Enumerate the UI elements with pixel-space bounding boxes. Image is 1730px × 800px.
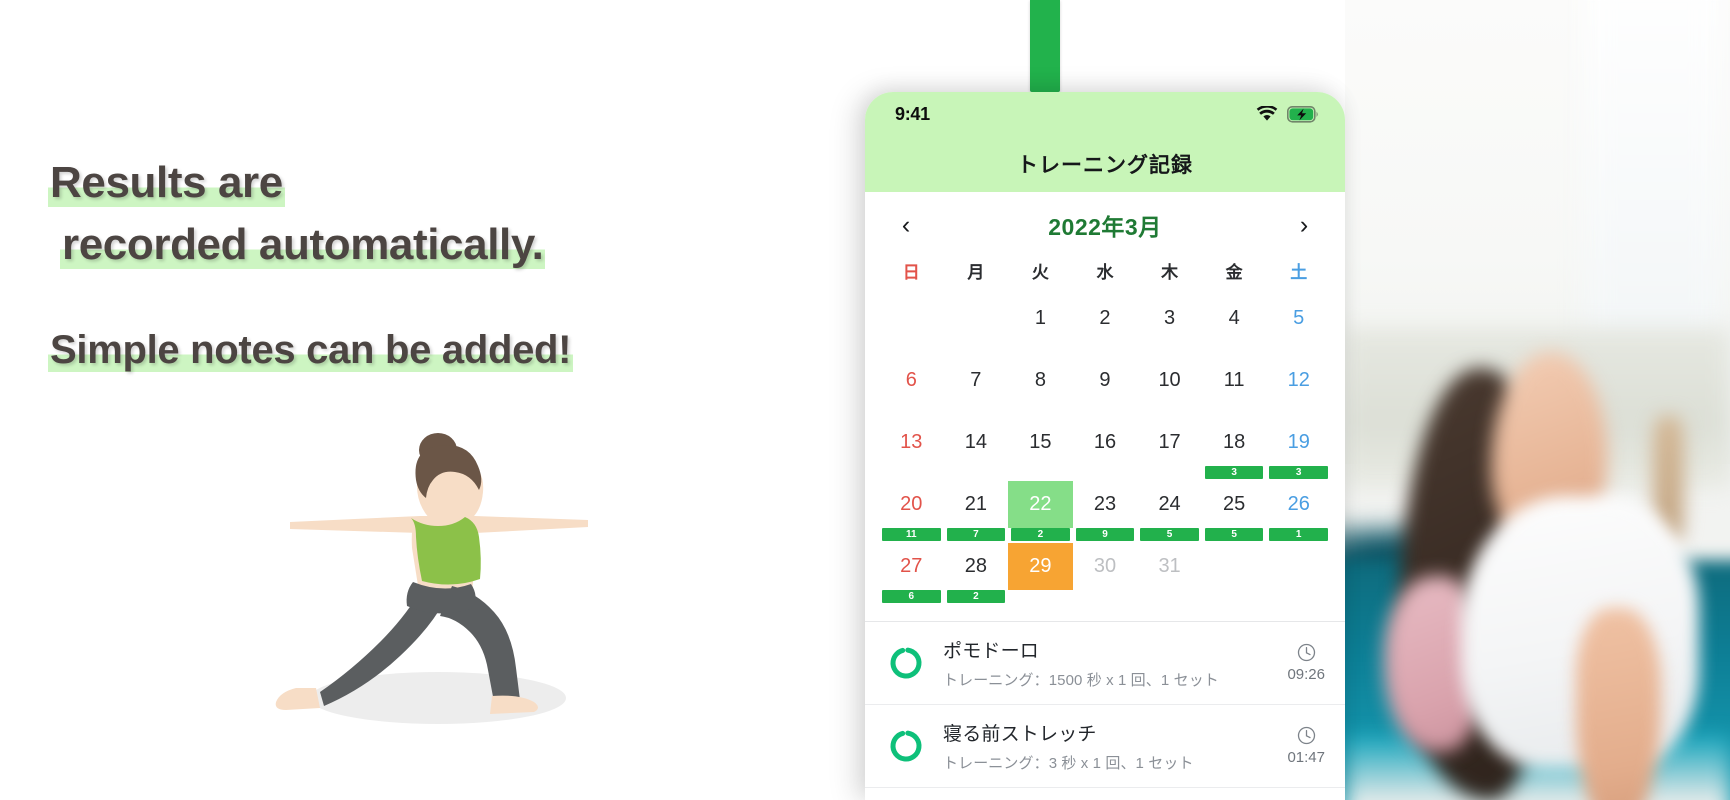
calendar-day-16[interactable]: 16 [1073, 419, 1138, 479]
day-number: 26 [1266, 481, 1331, 528]
day-number-wrap: 5 [1266, 295, 1331, 342]
day-number: 6 [879, 357, 944, 404]
calendar-week-row: 1314151617183193 [865, 419, 1345, 479]
day-number: 14 [944, 419, 1009, 466]
day-number-wrap: 2 [1073, 295, 1138, 342]
day-number-wrap: 4 [1202, 295, 1267, 342]
day-count-badge-empty [882, 404, 941, 417]
calendar-day-13[interactable]: 13 [879, 419, 944, 479]
day-number: 1 [1008, 295, 1073, 342]
day-number: 20 [879, 481, 944, 528]
day-count-badge: 7 [947, 528, 1006, 541]
page-title: トレーニング記録 [1017, 149, 1193, 179]
record-time-block: 01:47 [1277, 726, 1325, 766]
day-number: 4 [1202, 295, 1267, 342]
day-number-wrap [1266, 543, 1331, 590]
record-list-item[interactable]: 寝る前ストレッチトレーニング：3 秒 x 1 回、1 セット01:47 [865, 705, 1345, 788]
day-number: 7 [944, 357, 1009, 404]
calendar-week-row: 6789101112 [865, 357, 1345, 417]
day-number-wrap: 30 [1073, 543, 1138, 590]
calendar-day-7[interactable]: 7 [944, 357, 1009, 417]
day-number-wrap: 27 [879, 543, 944, 590]
day-count-badge-empty [1011, 342, 1070, 355]
day-number: 10 [1137, 357, 1202, 404]
day-number: 15 [1008, 419, 1073, 466]
calendar-day-19[interactable]: 193 [1266, 419, 1331, 479]
nav-bar: トレーニング記録 [865, 136, 1345, 192]
illustration-back-foot [276, 688, 320, 710]
day-number: 16 [1073, 419, 1138, 466]
day-count-badge: 3 [1269, 466, 1328, 479]
calendar-day-25[interactable]: 255 [1202, 481, 1267, 541]
day-number: 17 [1137, 419, 1202, 466]
day-count-badge: 9 [1076, 528, 1135, 541]
calendar-month-label: 2022年3月 [1048, 208, 1161, 242]
day-number: 8 [1008, 357, 1073, 404]
day-number-wrap: 24 [1137, 481, 1202, 528]
status-bar: 9:41 [865, 92, 1345, 136]
day-count-badge: 2 [1011, 528, 1070, 541]
weekday-header-4: 木 [1137, 252, 1202, 295]
calendar-day-24[interactable]: 245 [1137, 481, 1202, 541]
wifi-icon [1256, 106, 1278, 122]
day-count-badge-empty [1269, 590, 1328, 603]
day-count-badge: 11 [882, 528, 941, 541]
day-count-badge-empty [1140, 342, 1199, 355]
calendar-day-22[interactable]: 222 [1008, 481, 1073, 541]
calendar: ‹ 2022年3月 › 日月火水木金土 12345678910111213141… [865, 192, 1345, 615]
calendar-day-15[interactable]: 15 [1008, 419, 1073, 479]
record-time-block: 09:26 [1277, 643, 1325, 683]
day-number-wrap: 12 [1266, 357, 1331, 404]
calendar-grid: 1234567891011121314151617183193201121722… [865, 295, 1345, 603]
clock-icon [1297, 726, 1316, 745]
day-number-wrap: 14 [944, 419, 1009, 466]
calendar-day-2[interactable]: 2 [1073, 295, 1138, 355]
day-count-badge: 1 [1269, 528, 1328, 541]
prev-month-button[interactable]: ‹ [891, 210, 921, 240]
record-subtitle: トレーニング：3 秒 x 1 回、1 セット [943, 752, 1277, 773]
record-body: 寝る前ストレッチトレーニング：3 秒 x 1 回、1 セット [943, 719, 1277, 773]
calendar-week-row: 2011217222239245255261 [865, 481, 1345, 541]
day-number-wrap: 10 [1137, 357, 1202, 404]
yoga-illustration [270, 430, 600, 740]
record-title: 寝る前ストレッチ [943, 719, 1277, 746]
day-count-badge-empty [1140, 590, 1199, 603]
promo-screenshot: Results are recorded automatically. Simp… [0, 0, 1730, 800]
calendar-day-1[interactable]: 1 [1008, 295, 1073, 355]
subline: Simple notes can be added! [48, 322, 808, 378]
record-title: ポモドーロ [943, 636, 1277, 663]
record-time: 09:26 [1287, 666, 1325, 683]
weekday-header-1: 月 [944, 252, 1009, 295]
calendar-day-5[interactable]: 5 [1266, 295, 1331, 355]
calendar-day-empty [879, 295, 944, 355]
weekday-header-2: 火 [1008, 252, 1073, 295]
calendar-day-29[interactable]: 29 [1008, 543, 1073, 603]
calendar-day-12[interactable]: 12 [1266, 357, 1331, 417]
record-list: ポモドーロトレーニング：1500 秒 x 1 回、1 セット09:26寝る前スト… [865, 622, 1345, 788]
day-number: 27 [879, 543, 944, 590]
day-count-badge-empty [1140, 466, 1199, 479]
weekday-header-5: 金 [1202, 252, 1267, 295]
day-count-badge-empty [1269, 342, 1328, 355]
calendar-day-28[interactable]: 282 [944, 543, 1009, 603]
day-count-badge-empty [1140, 404, 1199, 417]
day-count-badge-empty [1076, 342, 1135, 355]
calendar-day-18[interactable]: 183 [1202, 419, 1267, 479]
day-count-badge-empty [1205, 342, 1264, 355]
status-clock: 9:41 [895, 104, 930, 125]
weekday-header-6: 土 [1266, 252, 1331, 295]
day-number [944, 295, 1009, 342]
day-number-wrap: 3 [1137, 295, 1202, 342]
calendar-day-empty [1266, 543, 1331, 603]
headline-line-1: Results are [48, 152, 808, 214]
day-number: 3 [1137, 295, 1202, 342]
day-number: 12 [1266, 357, 1331, 404]
day-number-wrap: 8 [1008, 357, 1073, 404]
day-number-wrap: 22 [1008, 481, 1073, 528]
day-number-wrap: 25 [1202, 481, 1267, 528]
calendar-day-8[interactable]: 8 [1008, 357, 1073, 417]
day-count-badge: 5 [1140, 528, 1199, 541]
day-number-wrap: 20 [879, 481, 944, 528]
calendar-header: ‹ 2022年3月 › [865, 192, 1345, 252]
day-number: 31 [1137, 543, 1202, 590]
day-count-badge-empty [1205, 404, 1264, 417]
weekday-header-3: 水 [1073, 252, 1138, 295]
day-number: 21 [944, 481, 1009, 528]
day-number-wrap [1202, 543, 1267, 590]
record-list-item[interactable]: ポモドーロトレーニング：1500 秒 x 1 回、1 セット09:26 [865, 622, 1345, 705]
day-count-badge-empty [882, 342, 941, 355]
day-number-wrap [944, 295, 1009, 342]
day-number-wrap: 29 [1008, 543, 1073, 590]
day-count-badge: 5 [1205, 528, 1264, 541]
day-number-wrap: 16 [1073, 419, 1138, 466]
record-subtitle: トレーニング：1500 秒 x 1 回、1 セット [943, 669, 1277, 690]
day-number: 25 [1202, 481, 1267, 528]
day-number: 19 [1266, 419, 1331, 466]
day-number: 24 [1137, 481, 1202, 528]
calendar-day-23[interactable]: 239 [1073, 481, 1138, 541]
calendar-day-9[interactable]: 9 [1073, 357, 1138, 417]
hero-photo [1345, 0, 1730, 800]
illustration-sports-bra [411, 517, 481, 585]
calendar-day-27[interactable]: 276 [879, 543, 944, 603]
calendar-day-3[interactable]: 3 [1137, 295, 1202, 355]
day-number-wrap: 6 [879, 357, 944, 404]
battery-charging-icon [1287, 106, 1319, 123]
day-count-badge-empty [947, 404, 1006, 417]
day-number: 9 [1073, 357, 1138, 404]
day-count-badge: 3 [1205, 466, 1264, 479]
day-number-wrap: 28 [944, 543, 1009, 590]
day-count-badge-empty [1076, 404, 1135, 417]
day-number-wrap: 19 [1266, 419, 1331, 466]
day-number-wrap: 26 [1266, 481, 1331, 528]
calendar-day-21[interactable]: 217 [944, 481, 1009, 541]
next-month-button[interactable]: › [1289, 210, 1319, 240]
calendar-day-20[interactable]: 2011 [879, 481, 944, 541]
day-number: 22 [1008, 481, 1073, 528]
day-count-badge-empty [1076, 590, 1135, 603]
calendar-day-empty [944, 295, 1009, 355]
calendar-day-empty [1202, 543, 1267, 603]
day-number: 2 [1073, 295, 1138, 342]
day-number-wrap: 17 [1137, 419, 1202, 466]
day-count-badge: 2 [947, 590, 1006, 603]
day-number: 13 [879, 419, 944, 466]
day-number-wrap: 1 [1008, 295, 1073, 342]
day-number-wrap: 21 [944, 481, 1009, 528]
calendar-week-row: 12345 [865, 295, 1345, 355]
day-count-badge: 6 [882, 590, 941, 603]
day-number-wrap: 18 [1202, 419, 1267, 466]
progress-ring-icon [887, 644, 925, 682]
day-number-wrap: 23 [1073, 481, 1138, 528]
day-count-badge-empty [1011, 590, 1070, 603]
record-time: 01:47 [1287, 749, 1325, 766]
day-count-badge-empty [1011, 404, 1070, 417]
day-number: 30 [1073, 543, 1138, 590]
headline: Results are recorded automatically. [48, 152, 808, 277]
headline-line-2: recorded automatically. [48, 214, 808, 276]
photo-leg [1576, 608, 1661, 800]
day-number [1202, 543, 1267, 590]
green-accent-tab [1030, 0, 1060, 92]
calendar-day-31[interactable]: 31 [1137, 543, 1202, 603]
day-number: 11 [1202, 357, 1267, 404]
day-number [879, 295, 944, 342]
calendar-day-6[interactable]: 6 [879, 357, 944, 417]
phone-mockup: 9:41 トレーニング記録 ‹ 2022年3 [865, 92, 1345, 800]
day-count-badge-empty [1076, 466, 1135, 479]
day-number-wrap: 9 [1073, 357, 1138, 404]
clock-icon [1297, 643, 1316, 662]
day-count-badge-empty [1205, 590, 1264, 603]
day-count-badge-empty [882, 466, 941, 479]
day-number: 28 [944, 543, 1009, 590]
progress-ring-icon [887, 727, 925, 765]
calendar-week-row: 276282293031 [865, 543, 1345, 603]
day-number-wrap: 7 [944, 357, 1009, 404]
day-count-badge-empty [1269, 404, 1328, 417]
calendar-day-14[interactable]: 14 [944, 419, 1009, 479]
record-body: ポモドーロトレーニング：1500 秒 x 1 回、1 セット [943, 636, 1277, 690]
day-number-wrap: 13 [879, 419, 944, 466]
day-count-badge-empty [1011, 466, 1070, 479]
day-count-badge-empty [947, 466, 1006, 479]
day-number-wrap [879, 295, 944, 342]
day-number: 23 [1073, 481, 1138, 528]
day-number-wrap: 31 [1137, 543, 1202, 590]
calendar-day-26[interactable]: 261 [1266, 481, 1331, 541]
weekday-header-0: 日 [879, 252, 944, 295]
day-number: 5 [1266, 295, 1331, 342]
day-number-wrap: 15 [1008, 419, 1073, 466]
day-count-badge-empty [947, 342, 1006, 355]
calendar-day-11[interactable]: 11 [1202, 357, 1267, 417]
calendar-weekday-header: 日月火水木金土 [865, 252, 1345, 295]
calendar-day-10[interactable]: 10 [1137, 357, 1202, 417]
day-number: 18 [1202, 419, 1267, 466]
day-number [1266, 543, 1331, 590]
marketing-copy: Results are recorded automatically. Simp… [0, 0, 860, 800]
calendar-day-17[interactable]: 17 [1137, 419, 1202, 479]
day-number: 29 [1008, 543, 1073, 590]
calendar-day-4[interactable]: 4 [1202, 295, 1267, 355]
calendar-day-30[interactable]: 30 [1073, 543, 1138, 603]
day-number-wrap: 11 [1202, 357, 1267, 404]
status-icons [1256, 106, 1319, 123]
